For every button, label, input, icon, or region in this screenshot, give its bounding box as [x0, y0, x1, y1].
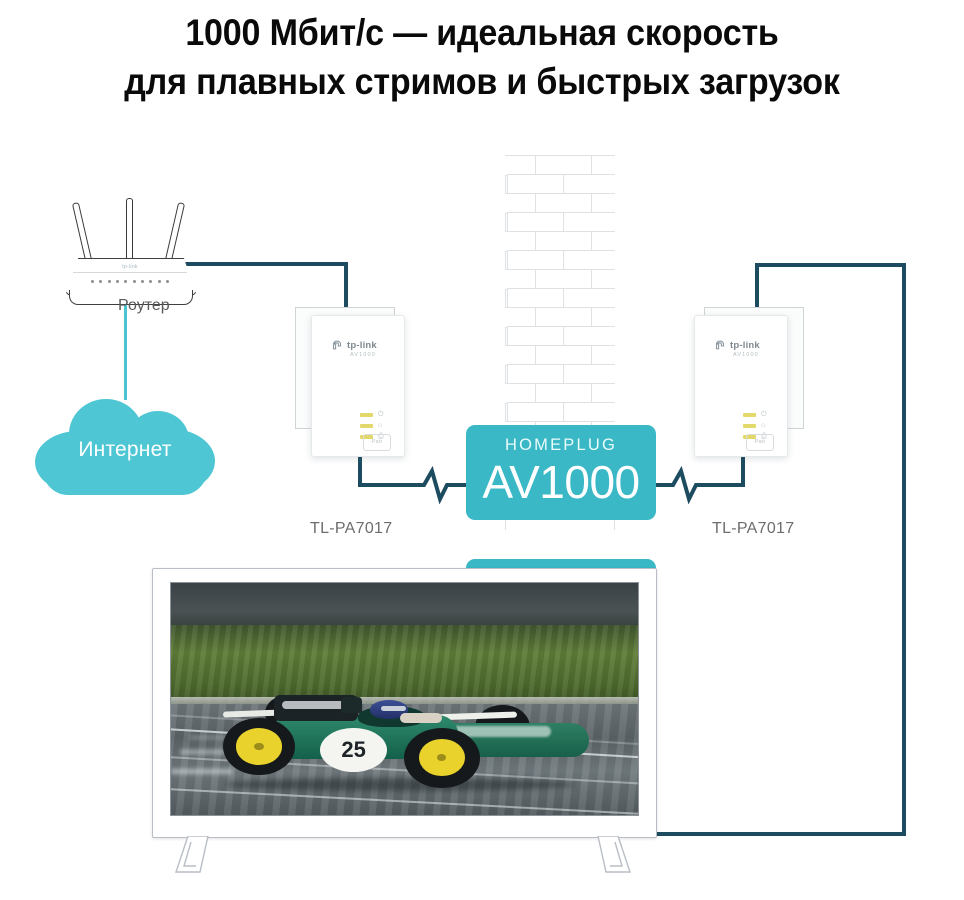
router-brand-logo: tp-link: [107, 264, 153, 272]
adapter-led-powerline: ⌂: [360, 422, 398, 430]
brick: [591, 269, 615, 290]
car-number: 25: [320, 728, 387, 772]
adapter-led-powerline: ⌂: [743, 422, 781, 430]
adapter-body: tp-link AV1000 ⏻ ⌂ ⎙ Pair: [694, 315, 788, 457]
brick: [535, 383, 593, 404]
brick: [563, 288, 615, 309]
av1000-value: AV1000: [466, 455, 656, 509]
brick: [535, 193, 593, 214]
adapter-pair-button[interactable]: Pair: [746, 434, 774, 451]
tp-link-mark-icon: [330, 339, 344, 353]
television: 25: [152, 568, 655, 858]
car-number-roundel: 25: [320, 728, 387, 772]
adapter-right-label: TL-PA7017: [712, 520, 794, 538]
brick: [507, 364, 565, 385]
brick: [535, 307, 593, 328]
cable-top-right-run: [755, 263, 906, 267]
powerline-adapter-right: tp-link AV1000 ⏻ ⌂ ⎙ Pair: [688, 305, 808, 455]
internet-cloud: Интернет: [35, 393, 215, 498]
brick: [591, 231, 615, 252]
page-title: 1000 Мбит/с — идеальная скорость для пла…: [39, 8, 926, 106]
cable-adapter-left-to-wall-a: [358, 483, 418, 487]
brick: [535, 155, 593, 176]
power-icon: ⏻: [378, 411, 384, 419]
router-device: tp-link: [55, 198, 205, 313]
homeplug-caption: HOMEPLUG: [466, 436, 656, 455]
router-antenna-center: [126, 198, 133, 264]
driver-arm: [400, 713, 442, 723]
led-bar: [360, 424, 373, 428]
brick: [507, 250, 565, 271]
router-led-row: [91, 280, 169, 285]
brick: [535, 345, 593, 366]
tv-leg-left: [174, 836, 214, 874]
helmet-visor: [381, 706, 406, 711]
page-title-line-1: 1000 Мбит/с — идеальная скорость: [39, 8, 926, 57]
led-bar: [743, 413, 756, 417]
brick: [507, 174, 565, 195]
internet-cloud-label: Интернет: [35, 438, 215, 462]
adapter-led-power: ⏻: [743, 411, 781, 419]
adapter-pair-button[interactable]: Pair: [363, 434, 391, 451]
brick: [507, 402, 565, 423]
brick: [505, 231, 537, 252]
tv-leg-right: [592, 836, 632, 874]
led-bar: [360, 413, 373, 417]
brick: [505, 383, 537, 404]
brick: [505, 345, 537, 366]
tp-link-mark-icon: [713, 339, 727, 353]
brick: [505, 307, 537, 328]
brick: [591, 193, 615, 214]
race-car: 25: [190, 671, 610, 801]
brick: [563, 174, 615, 195]
cable-far-right-run: [902, 263, 906, 836]
led-bar: [743, 424, 756, 428]
brick: [507, 212, 565, 233]
page-title-line-2: для плавных стримов и быстрых загрузок: [39, 57, 926, 106]
tv-screen: 25: [170, 582, 639, 816]
power-icon: ⏻: [761, 411, 767, 419]
powerline-icon: ⌂: [761, 422, 765, 430]
adapter-brand-logo: tp-link AV1000: [713, 338, 775, 360]
brick: [563, 250, 615, 271]
brick: [591, 307, 615, 328]
brick: [591, 345, 615, 366]
brick: [535, 269, 593, 290]
cable-router-to-cloud: [124, 300, 127, 400]
brick: [591, 383, 615, 404]
brick: [505, 155, 537, 176]
cable-wall-to-adapter-right-b: [703, 483, 745, 487]
adapter-model-print: AV1000: [733, 352, 759, 358]
roll-bar: [341, 697, 362, 713]
adapter-led-power: ⏻: [360, 411, 398, 419]
powerline-adapter-left: tp-link AV1000 ⏻ ⌂ ⎙ Pair: [295, 305, 415, 455]
av1000-badge: HOMEPLUG AV1000: [466, 425, 656, 520]
router-label: Роутер: [118, 297, 170, 315]
router-antenna-left: [72, 202, 93, 266]
brick: [563, 364, 615, 385]
adapter-body: tp-link AV1000 ⏻ ⌂ ⎙ Pair: [311, 315, 405, 457]
car-shadow: [223, 778, 576, 791]
brick: [507, 288, 565, 309]
network-diagram: tp-link Роутер Интернет: [0, 150, 964, 900]
adapter-brand-text: tp-link: [347, 340, 377, 351]
brick: [505, 193, 537, 214]
brick: [591, 155, 615, 176]
adapter-left-label: TL-PA7017: [310, 520, 392, 538]
brick: [563, 402, 615, 423]
brick: [535, 231, 593, 252]
adapter-brand-text: tp-link: [730, 340, 760, 351]
brick: [505, 269, 537, 290]
adapter-brand-logo: tp-link AV1000: [330, 338, 392, 360]
router-antenna-right: [164, 202, 185, 266]
power-zigzag-right-icon: [663, 466, 707, 504]
brick: [563, 212, 615, 233]
brick: [563, 326, 615, 347]
front-wheel-rim: [236, 728, 282, 764]
powerline-icon: ⌂: [378, 422, 382, 430]
cable-right-to-tv: [648, 832, 906, 836]
brick: [507, 326, 565, 347]
adapter-model-print: AV1000: [350, 352, 376, 358]
rear-wheel-rim: [419, 739, 465, 777]
